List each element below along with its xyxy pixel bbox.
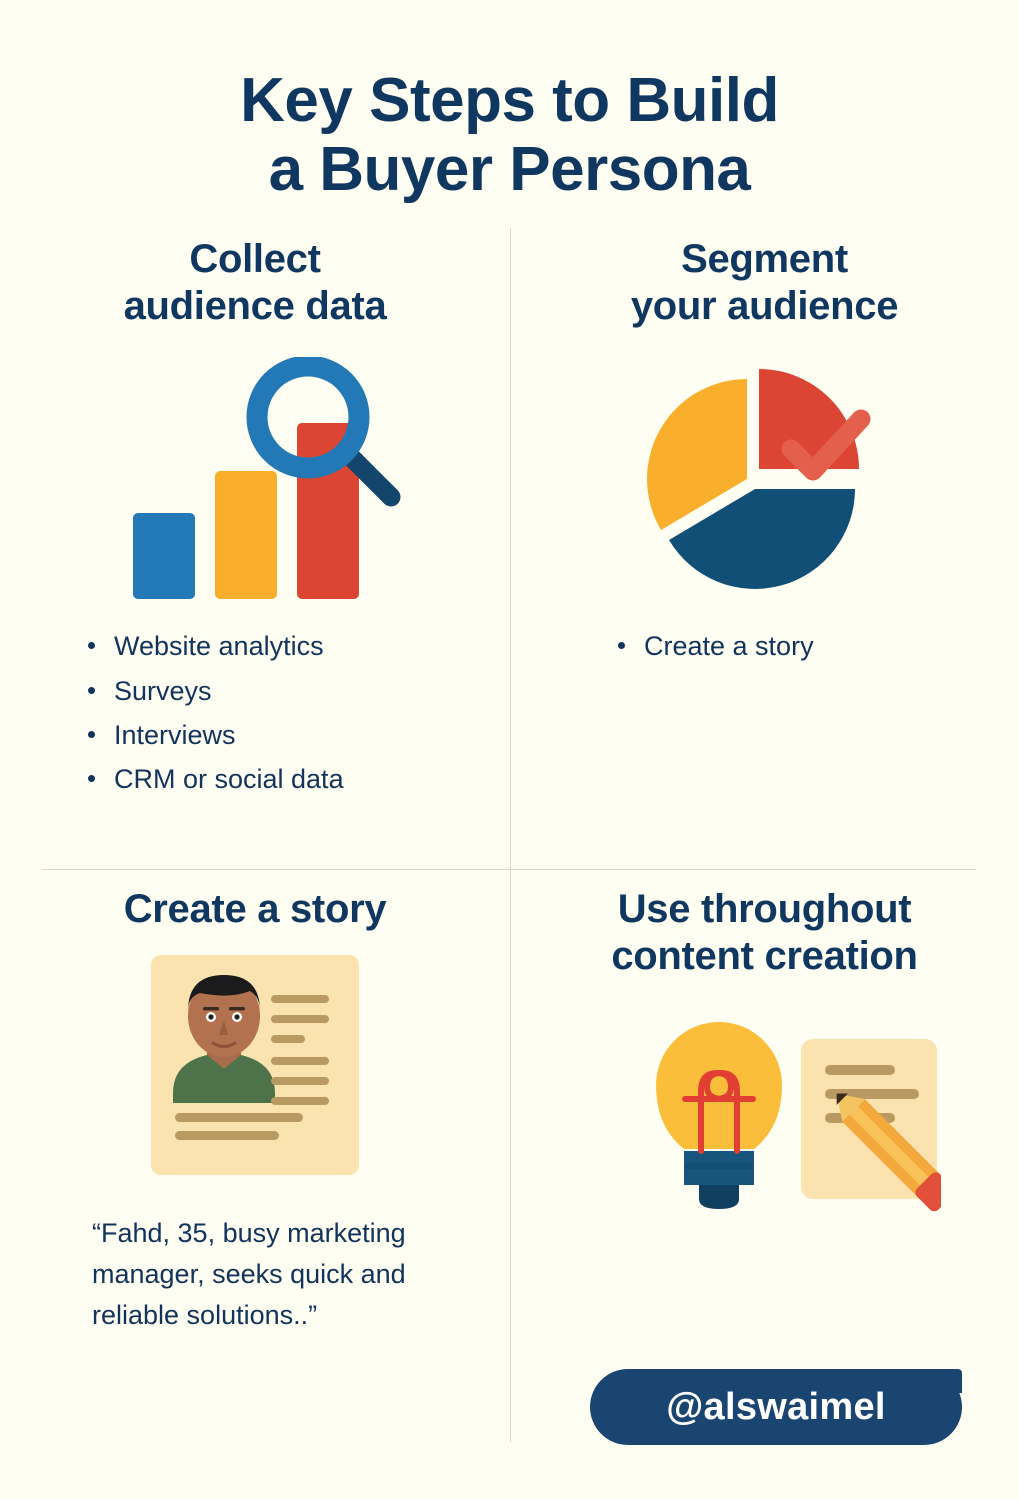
page-title: Key Steps to Build a Buyer Persona <box>0 66 1019 205</box>
handle-text: @alswaimel <box>666 1386 886 1429</box>
list-item: Create a story <box>610 624 1019 668</box>
pie-chart-check-svg <box>615 353 915 601</box>
page-title-line1: Key Steps to Build <box>240 66 779 135</box>
heading-line1: Use throughout <box>618 887 912 931</box>
quadrant-create-a-story: Create a story <box>0 886 510 1336</box>
persona-card-icon <box>0 947 510 1183</box>
heading-segment-your-audience: Segment your audience <box>510 236 1019 330</box>
card-line <box>175 1113 303 1122</box>
bulb-contact <box>699 1185 739 1209</box>
heading-use-throughout-content-creation: Use throughout content creation <box>510 886 1019 980</box>
bar-2 <box>215 471 277 599</box>
bar-chart-magnifier-svg <box>105 357 405 605</box>
bulb-glass <box>656 1022 782 1149</box>
avatar-brow-left <box>203 1007 219 1010</box>
quadrant-segment-your-audience: Segment your audience Create a story <box>510 236 1019 669</box>
card-line <box>175 1131 279 1140</box>
persona-quote: “Fahd, 35, busy marketing manager, seeks… <box>92 1213 482 1336</box>
list-item: CRM or social data <box>80 757 510 801</box>
card-line <box>271 995 329 1003</box>
bullet-list-collect: Website analytics Surveys Interviews CRM… <box>80 624 510 801</box>
heading-create-a-story: Create a story <box>0 886 510 933</box>
avatar-brow-right <box>229 1007 245 1010</box>
list-item: Website analytics <box>80 624 510 668</box>
card-line <box>271 1057 329 1065</box>
heading-line2: audience data <box>0 283 510 330</box>
list-item: Interviews <box>80 713 510 757</box>
page-title-line2: a Buyer Persona <box>0 135 1019 204</box>
divider-horizontal <box>42 869 976 870</box>
list-item: Surveys <box>80 669 510 713</box>
lightbulb-document-pencil-icon <box>510 998 1019 1234</box>
quadrant-use-throughout-content-creation: Use throughout content creation <box>510 886 1019 1234</box>
bar-1 <box>133 513 195 599</box>
bulb-base-groove <box>686 1163 752 1169</box>
heading-line1: Create a story <box>124 887 387 931</box>
document-line <box>825 1065 895 1075</box>
bar-chart-magnifier-icon <box>0 356 510 606</box>
card-line <box>271 1077 329 1085</box>
card-line <box>271 1035 305 1043</box>
handle-badge[interactable]: @alswaimel <box>590 1369 962 1445</box>
quadrant-collect-audience-data: Collect audience data Website analytics … <box>0 236 510 801</box>
lightbulb-icon <box>656 1022 782 1209</box>
heading-line1: Segment <box>681 237 848 281</box>
avatar-pupil-right <box>234 1015 239 1020</box>
heading-line2: content creation <box>510 933 1019 980</box>
heading-collect-audience-data: Collect audience data <box>0 236 510 330</box>
heading-line2: your audience <box>510 283 1019 330</box>
heading-line1: Collect <box>189 237 320 281</box>
bullet-list-segment: Create a story <box>610 624 1019 668</box>
pie-chart-check-icon <box>510 352 1019 602</box>
infographic-page: Key Steps to Build a Buyer Persona Colle… <box>0 0 1019 1499</box>
persona-card-svg <box>149 953 361 1177</box>
card-line <box>271 1097 329 1105</box>
card-line <box>271 1015 329 1023</box>
lightbulb-document-pencil-svg <box>589 1003 941 1229</box>
avatar-pupil-left <box>208 1015 213 1020</box>
